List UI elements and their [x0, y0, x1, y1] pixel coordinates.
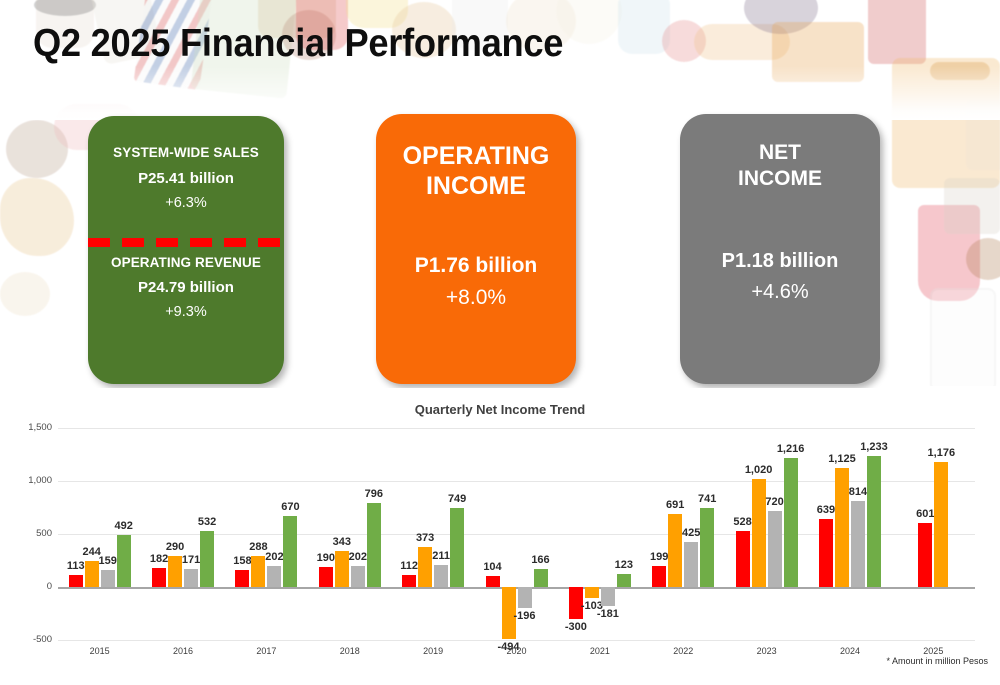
- hotdog-image: [694, 24, 790, 60]
- grapes-image: [744, 0, 818, 34]
- kpi-label-line-2: INCOME: [403, 171, 550, 201]
- bar-2023-Q4[interactable]: [784, 458, 798, 587]
- kpi-label-line-1: NET: [738, 140, 822, 166]
- bar-value-label: 492: [104, 520, 144, 532]
- kpi-card-operating-income[interactable]: OPERATING INCOME P1.76 billion +8.0%: [376, 114, 576, 384]
- y-axis-tick-label: 1,500: [2, 422, 52, 433]
- bar-value-label: 796: [354, 488, 394, 500]
- x-axis-tick-label: 2016: [143, 646, 223, 656]
- bar-2016-Q3[interactable]: [184, 569, 198, 587]
- kpi-delta-net-income: +4.6%: [751, 281, 808, 304]
- x-axis-tick-label: 2022: [643, 646, 723, 656]
- x-axis-tick-label: 2021: [560, 646, 640, 656]
- cliqq-phone-image: [930, 288, 996, 392]
- bar-2022-Q3[interactable]: [684, 542, 698, 587]
- x-axis-tick-label: 2020: [477, 646, 557, 656]
- kpi-delta-operating-revenue: +9.3%: [111, 304, 261, 320]
- page-title: Q2 2025 Financial Performance: [33, 22, 563, 66]
- kpi-value-net-income: P1.18 billion: [722, 250, 839, 273]
- cin-drink-can-image: [868, 0, 926, 64]
- bar-value-label: 749: [437, 493, 477, 505]
- chart-title: Quarterly Net Income Trend: [0, 402, 1000, 417]
- bar-value-label: 1,020: [739, 464, 779, 476]
- bun-image: [0, 272, 50, 316]
- dashed-divider: [88, 238, 284, 247]
- bar-value-label: 1,216: [771, 443, 811, 455]
- gulp-cup-large-image: [918, 205, 980, 301]
- bar-value-label: 1,233: [854, 441, 894, 453]
- y-axis-tick-label: -500: [2, 634, 52, 645]
- bar-value-label: 123: [604, 559, 644, 571]
- kpi-label-system-wide-sales: SYSTEM-WIDE SALES: [113, 145, 259, 161]
- bar-2022-Q2[interactable]: [668, 514, 682, 587]
- fried-chicken-image: [0, 178, 74, 256]
- kpi-value-operating-revenue: P24.79 billion: [111, 279, 261, 296]
- kpi-label-operating-revenue: OPERATING REVENUE: [111, 255, 261, 271]
- bar-2019-Q4[interactable]: [450, 508, 464, 587]
- bar-value-label: 670: [270, 501, 310, 513]
- cream-swirl-image: [556, 0, 622, 44]
- tissue-box-image: [944, 178, 1000, 234]
- chocolate-cookie-image: [966, 238, 1000, 280]
- crunch-carrier-handle-icon: [930, 62, 990, 80]
- bar-2025-Q1[interactable]: [918, 523, 932, 587]
- y-axis-tick-label: 0: [2, 581, 52, 592]
- gridline: [58, 428, 975, 429]
- bar-2018-Q4[interactable]: [367, 503, 381, 587]
- coffee-lid-icon: [34, 0, 96, 16]
- bar-2025-Q2[interactable]: [934, 462, 948, 587]
- bar-2022-Q4[interactable]: [700, 508, 714, 587]
- bar-2017-Q1[interactable]: [235, 570, 249, 587]
- bar-2017-Q3[interactable]: [267, 566, 281, 587]
- bar-2018-Q3[interactable]: [351, 566, 365, 587]
- bar-2020-Q4[interactable]: [534, 569, 548, 587]
- biscuit-pack-image: [772, 22, 864, 82]
- kpi-label-operating-income: OPERATING INCOME: [403, 141, 550, 201]
- bar-2016-Q1[interactable]: [152, 568, 166, 587]
- bar-2021-Q3[interactable]: [601, 587, 615, 606]
- kpi-delta-operating-income: +8.0%: [446, 286, 506, 310]
- y-axis-tick-label: 500: [2, 528, 52, 539]
- bar-2020-Q1[interactable]: [486, 576, 500, 587]
- kpi-card-system-wide-sales[interactable]: SYSTEM-WIDE SALES P25.41 billion +6.3% O…: [88, 116, 284, 384]
- bar-value-label: 290: [155, 541, 195, 553]
- x-axis-tick-label: 2017: [226, 646, 306, 656]
- bar-2020-Q3[interactable]: [518, 587, 532, 608]
- x-axis-tick-label: 2025: [893, 646, 973, 656]
- kpi-label-line-2: INCOME: [738, 166, 822, 192]
- bar-value-label: 373: [405, 532, 445, 544]
- x-axis-tick-label: 2023: [727, 646, 807, 656]
- bar-value-label: -181: [588, 608, 628, 620]
- bar-2024-Q4[interactable]: [867, 456, 881, 587]
- bar-value-label: 343: [322, 536, 362, 548]
- chart-plot-area: -50005001,0001,5001132441594922015182290…: [58, 428, 975, 640]
- muffin-image: [6, 120, 68, 178]
- bar-2015-Q1[interactable]: [69, 575, 83, 587]
- x-axis-tick-label: 2018: [310, 646, 390, 656]
- bar-value-label: -300: [556, 621, 596, 633]
- bar-value-label: 1,176: [921, 447, 961, 459]
- bar-2024-Q1[interactable]: [819, 519, 833, 587]
- ice-cream-cup-image: [618, 0, 670, 54]
- crunch-carrier-box-image: [892, 58, 1000, 188]
- apple-image: [662, 20, 706, 62]
- x-axis-tick-label: 2019: [393, 646, 473, 656]
- bar-2015-Q3[interactable]: [101, 570, 115, 587]
- kpi-delta-system-wide-sales: +6.3%: [113, 195, 259, 211]
- bar-2021-Q2[interactable]: [585, 587, 599, 598]
- kpi-value-operating-income: P1.76 billion: [415, 254, 538, 278]
- bar-2021-Q4[interactable]: [617, 574, 631, 587]
- right-edge-pack-image: [966, 100, 1000, 170]
- x-axis-tick-label: 2024: [810, 646, 890, 656]
- bar-2022-Q1[interactable]: [652, 566, 666, 587]
- bar-value-label: 532: [187, 516, 227, 528]
- bar-2019-Q1[interactable]: [402, 575, 416, 587]
- bar-2016-Q4[interactable]: [200, 531, 214, 587]
- x-axis-tick-label: 2015: [60, 646, 140, 656]
- bar-2018-Q1[interactable]: [319, 567, 333, 587]
- bar-value-label: 741: [687, 493, 727, 505]
- y-axis-tick-label: 1,000: [2, 475, 52, 486]
- bar-value-label: 104: [473, 561, 513, 573]
- bar-2017-Q4[interactable]: [283, 516, 297, 587]
- kpi-label-line-1: OPERATING: [403, 141, 550, 171]
- bar-2023-Q3[interactable]: [768, 511, 782, 587]
- kpi-label-net-income: NET INCOME: [738, 140, 822, 193]
- bar-2023-Q1[interactable]: [736, 531, 750, 587]
- quarterly-net-income-chart: Quarterly Net Income Trend -50005001,000…: [0, 388, 1000, 685]
- bar-2024-Q3[interactable]: [851, 501, 865, 587]
- axis-zero-line: [58, 587, 975, 589]
- bar-value-label: -196: [505, 610, 545, 622]
- kpi-card-net-income[interactable]: NET INCOME P1.18 billion +4.6%: [680, 114, 880, 384]
- bar-value-label: 1,125: [822, 453, 862, 465]
- bar-2019-Q3[interactable]: [434, 565, 448, 587]
- bar-value-label: 166: [521, 554, 561, 566]
- slide-canvas: Q2 2025 Financial Performance SYSTEM-WID…: [0, 0, 1000, 685]
- kpi-value-system-wide-sales: P25.41 billion: [113, 170, 259, 187]
- chart-footnote: * Amount in million Pesos: [886, 656, 988, 666]
- bar-2015-Q4[interactable]: [117, 535, 131, 587]
